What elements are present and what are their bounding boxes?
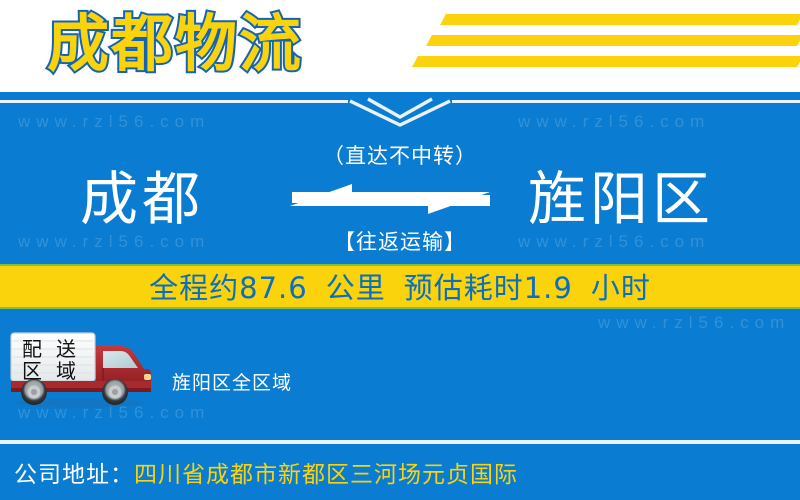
divider-rule-left — [0, 100, 348, 103]
route-destination: 旌阳区 — [528, 168, 714, 230]
truck-box-char-3: 区 — [22, 359, 42, 383]
bidirectional-arrow-icon — [290, 178, 490, 220]
double-chevron-down-icon — [348, 95, 452, 129]
distance-label: 全程约87.6 — [149, 265, 308, 307]
stripe-2 — [426, 35, 800, 46]
address-label: 公司地址： — [14, 455, 134, 489]
stripe-1 — [440, 14, 800, 25]
truck-box-char-1: 配 — [22, 337, 42, 361]
coverage-area-text: 旌阳区全区域 — [172, 368, 292, 395]
stripe-3 — [412, 56, 800, 67]
truck-box-char-2: 送 — [56, 337, 76, 361]
brand-title: 成都物流 — [47, 6, 303, 82]
logistics-banner: 成都物流 www.rzl56.com www.rzl56.com www.rzl… — [0, 0, 800, 500]
truck-box-char-4: 域 — [56, 359, 76, 383]
duration-label: 预估耗时1.9 — [404, 265, 573, 307]
roundtrip-note: 【往返运输】 — [0, 226, 800, 256]
watermark: www.rzl56.com — [518, 112, 710, 132]
watermark: www.rzl56.com — [598, 313, 790, 333]
address-value: 四川省成都市新都区三河场元贞国际 — [134, 455, 518, 489]
watermark: www.rzl56.com — [18, 112, 210, 132]
decorative-stripes — [415, 14, 800, 76]
company-address-bar: 公司地址： 四川省成都市新都区三河场元贞国际 — [0, 444, 800, 500]
delivery-truck-icon: 配 送 区 域 — [8, 330, 158, 408]
distance-unit: 公里 — [326, 265, 386, 307]
banner-header: 成都物流 — [0, 0, 800, 92]
duration-unit: 小时 — [591, 265, 651, 307]
distance-info-bar: 全程约87.6 公里 预估耗时1.9 小时 — [0, 264, 800, 309]
route-origin: 成都 — [80, 168, 204, 230]
divider-rule-right — [452, 100, 800, 103]
delivery-coverage-section: www.rzl56.com www.rzl56.com — [0, 309, 800, 440]
